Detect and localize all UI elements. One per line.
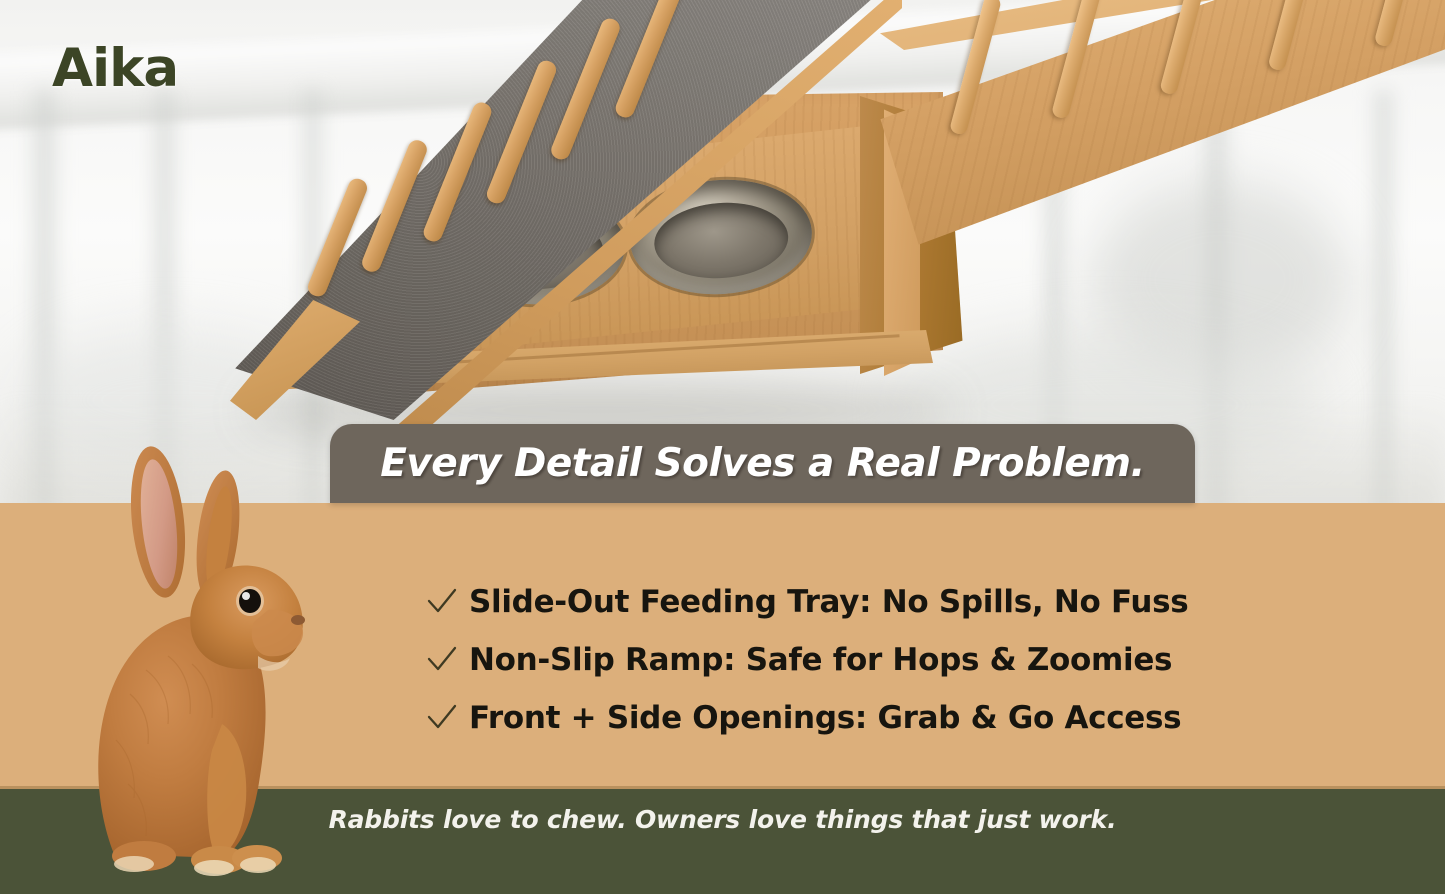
rabbit-eye <box>239 589 261 613</box>
feature-label: Slide-Out Feeding Tray: No Spills, No Fu… <box>469 584 1188 620</box>
feature-list: Slide-Out Feeding Tray: No Spills, No Fu… <box>424 573 1188 747</box>
feature-item: Front + Side Openings: Grab & Go Access <box>424 689 1188 747</box>
rabbit-nose <box>291 615 305 625</box>
product-feature-banner: Aika Every Detail Solves a Real Problem.… <box>0 0 1445 894</box>
feature-label: Non-Slip Ramp: Safe for Hops & Zoomies <box>469 642 1172 678</box>
headline-text: Every Detail Solves a Real Problem. <box>380 441 1145 486</box>
headline-banner: Every Detail Solves a Real Problem. <box>330 424 1195 503</box>
brand-logo: Aika <box>52 38 178 99</box>
feature-item: Non-Slip Ramp: Safe for Hops & Zoomies <box>424 631 1188 689</box>
check-icon <box>424 642 460 678</box>
feature-item: Slide-Out Feeding Tray: No Spills, No Fu… <box>424 573 1188 631</box>
check-icon <box>424 584 460 620</box>
rabbit-photo <box>72 424 352 880</box>
check-icon <box>424 700 460 736</box>
feature-label: Front + Side Openings: Grab & Go Access <box>469 700 1181 736</box>
